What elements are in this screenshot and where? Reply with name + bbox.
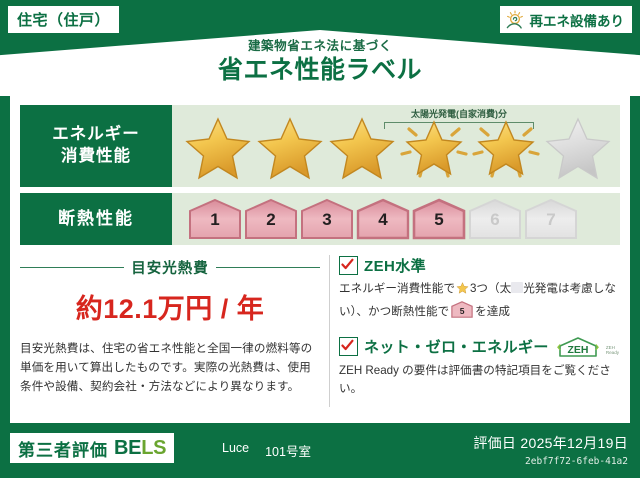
- evaluation-info: 評価日 2025年12月19日 2ebf7f72-6feb-41a2: [473, 433, 628, 467]
- house-grade-icon-value: 5: [451, 305, 473, 319]
- insulation-performance-label-text: 断熱性能: [58, 208, 134, 230]
- insulation-grade-3-value: 3: [300, 211, 354, 228]
- star-filled-3: [326, 110, 398, 182]
- energy-performance-row-label: エネルギー 消費性能: [20, 105, 172, 187]
- zeh-standard-title: ZEH水準: [364, 255, 426, 276]
- svg-text:ZEH: ZEH: [567, 344, 588, 356]
- energy-performance-label-line2: 消費性能: [61, 146, 131, 168]
- utility-cost-heading: 目安光熱費: [20, 257, 320, 278]
- bels-logo-part1: BE: [114, 437, 141, 459]
- zeh-standard-block: ZEH水準 エネルギー消費性能で3つ（太光発電は考慮しない）、かつ断熱性能で5を…: [339, 255, 620, 322]
- zeh-section: ZEH水準 エネルギー消費性能で3つ（太光発電は考慮しない）、かつ断熱性能で5を…: [339, 253, 620, 413]
- label-header: 住宅（住戸） 再エネ設備あり 建築物省エネ法に基づく 省エネ性能ラベル: [0, 0, 640, 96]
- renewable-equipment-badge-label: 再エネ設備あり: [530, 10, 625, 30]
- energy-performance-label-line1: エネルギー: [52, 124, 140, 146]
- redacted-character: [511, 282, 523, 293]
- unit-name: 101号室: [265, 441, 311, 460]
- zeh-standard-description: エネルギー消費性能で3つ（太光発電は考慮しない）、かつ断熱性能で5を達成: [339, 280, 620, 322]
- third-party-evaluation-label: 第三者評価: [18, 436, 108, 461]
- zeh-house-logo-icon: ZEH: [557, 336, 599, 358]
- star-rating: [172, 105, 620, 187]
- evaluation-id: 2ebf7f72-6feb-41a2: [473, 456, 628, 467]
- zeh-standard-text-part1: エネルギー消費性能で: [339, 282, 455, 295]
- insulation-grade-4: 4: [356, 198, 410, 240]
- insulation-grade-area: 1 2 3 4 5: [172, 193, 620, 245]
- net-zero-energy-heading: ネット・ゼロ・エネルギー ZEH ZEH Ready: [339, 336, 620, 358]
- label-title-sub: 建築物省エネ法に基づく: [0, 40, 640, 54]
- net-zero-energy-title: ネット・ゼロ・エネルギー: [364, 336, 549, 357]
- star-filled-2: [254, 110, 326, 182]
- heading-rule-left: [20, 267, 124, 269]
- building-identification: Luce 101号室: [222, 441, 311, 460]
- check-icon: [341, 258, 354, 271]
- zeh-standard-star-count: 3つ（太: [470, 282, 511, 295]
- zeh-ready-mini-line2: Ready: [606, 351, 619, 356]
- zeh-standard-text-part3: を達成: [475, 305, 510, 318]
- label-body-card: エネルギー 消費性能 太陽光発電(自家消費)分: [10, 93, 630, 423]
- insulation-grade-1: 1: [188, 198, 242, 240]
- bels-logo: BELS: [114, 437, 166, 460]
- label-title: 建築物省エネ法に基づく 省エネ性能ラベル: [0, 40, 640, 86]
- insulation-grade-7-value: 7: [524, 211, 578, 228]
- zeh-ready-mini-label: ZEH Ready: [606, 346, 619, 358]
- evaluation-date: 評価日 2025年12月19日: [473, 433, 628, 453]
- net-zero-energy-block: ネット・ゼロ・エネルギー ZEH ZEH Ready ZEH Ready の要件: [339, 336, 620, 400]
- insulation-grade-scale: 1 2 3 4 5: [172, 193, 620, 245]
- insulation-grade-2: 2: [244, 198, 298, 240]
- net-zero-energy-description: ZEH Ready の要件は評価書の特記項目をご覧ください。: [339, 362, 620, 400]
- checkbox-checked-zeh-standard: [339, 256, 358, 275]
- building-type-badge: 住宅（住戸）: [8, 6, 119, 33]
- checkbox-checked-net-zero: [339, 337, 358, 356]
- star-filled-solar-4: [398, 110, 470, 182]
- renewable-equipment-badge: 再エネ設備あり: [500, 6, 633, 33]
- insulation-grade-5-value: 5: [412, 211, 466, 228]
- insulation-performance-row: 断熱性能 1 2: [20, 193, 620, 245]
- zeh-standard-heading: ZEH水準: [339, 255, 620, 276]
- energy-performance-label: 住宅（住戸） 再エネ設備あり 建築物省エネ法に基づく 省エネ性能ラベル: [0, 0, 640, 478]
- utility-cost-section: 目安光熱費 約12.1万円 / 年 目安光熱費は、住宅の省エネ性能と全国一律の燃…: [20, 253, 320, 413]
- insulation-grade-4-value: 4: [356, 211, 410, 228]
- vertical-divider: [329, 255, 330, 407]
- utility-cost-heading-text: 目安光熱費: [131, 257, 209, 278]
- bels-logo-part2: LS: [141, 437, 166, 459]
- building-name: Luce: [222, 441, 249, 460]
- sun-solar-icon: [505, 10, 527, 30]
- utility-cost-value: 約12.1万円 / 年: [20, 287, 320, 326]
- insulation-grade-2-value: 2: [244, 211, 298, 228]
- insulation-grade-3: 3: [300, 198, 354, 240]
- insulation-grade-5: 5: [412, 198, 466, 240]
- energy-performance-row: エネルギー 消費性能 太陽光発電(自家消費)分: [20, 105, 620, 187]
- star-filled-solar-5: [470, 110, 542, 182]
- utility-cost-note: 目安光熱費は、住宅の省エネ性能と全国一律の燃料等の単価を用いて算出したものです。…: [20, 339, 320, 396]
- label-details-section: 目安光熱費 約12.1万円 / 年 目安光熱費は、住宅の省エネ性能と全国一律の燃…: [20, 253, 620, 413]
- insulation-grade-7: 7: [524, 198, 578, 240]
- star-icon: [456, 281, 469, 301]
- check-icon: [341, 339, 354, 352]
- heading-rule-right: [216, 267, 320, 269]
- bels-third-party-badge: 第三者評価 BELS: [10, 433, 174, 463]
- insulation-performance-row-label: 断熱性能: [20, 193, 172, 245]
- energy-performance-rating-area: 太陽光発電(自家消費)分: [172, 105, 620, 187]
- insulation-grade-6-value: 6: [468, 211, 522, 228]
- insulation-grade-6: 6: [468, 198, 522, 240]
- label-title-main: 省エネ性能ラベル: [0, 55, 640, 86]
- star-empty-6: [542, 110, 614, 182]
- star-filled-1: [182, 110, 254, 182]
- house-grade-icon: 5: [451, 301, 473, 318]
- label-footer: 第三者評価 BELS Luce 101号室 評価日 2025年12月19日 2e…: [0, 423, 640, 478]
- building-type-badge-label: 住宅（住戸）: [17, 9, 110, 30]
- insulation-grade-1-value: 1: [188, 211, 242, 228]
